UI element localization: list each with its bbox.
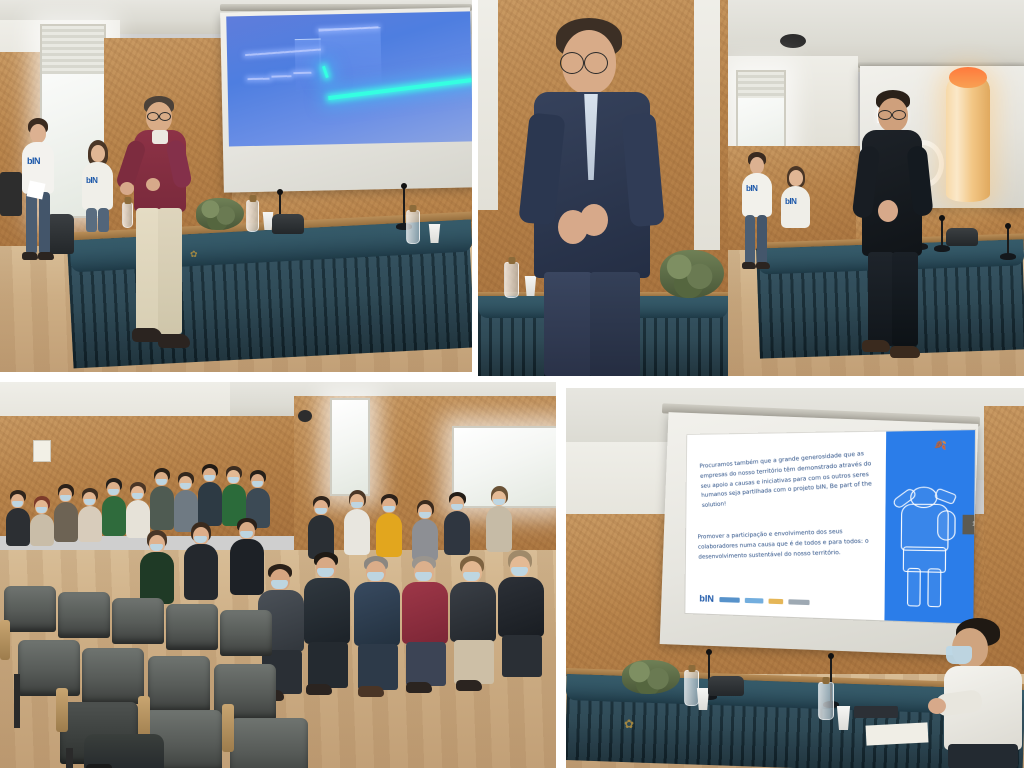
shirt-logo: bIN [27, 156, 40, 166]
seat-armrest [222, 704, 234, 752]
leg [868, 252, 894, 346]
audience-member [6, 490, 30, 546]
leg [39, 192, 50, 254]
microphone [1000, 226, 1016, 256]
table-crest: ✿ [624, 718, 634, 730]
student-volunteer: bIN [740, 152, 774, 284]
head [789, 170, 803, 186]
front-row-guest [450, 556, 496, 698]
slide-footer: bIN [699, 593, 809, 607]
leg [745, 215, 755, 265]
seat [220, 610, 272, 656]
seat [112, 598, 164, 644]
audience-scene [0, 382, 556, 768]
collar [152, 130, 168, 144]
audience-member [30, 496, 54, 546]
hand [928, 698, 946, 714]
seat [18, 640, 80, 696]
partner-logo-icon [719, 597, 739, 603]
glasses [892, 110, 906, 120]
photo-panel-top-left: ✿ bIN [0, 0, 472, 372]
wall-pillar [694, 0, 720, 250]
seat [4, 586, 56, 632]
shoe [158, 334, 190, 348]
seat-leg [66, 748, 73, 768]
shoe [38, 252, 54, 260]
glasses [560, 52, 584, 74]
head [750, 157, 764, 174]
window-blind [738, 72, 784, 98]
shirt-logo: bIN [746, 184, 757, 193]
auditorium-scene-top-left: ✿ bIN [0, 0, 472, 372]
leg [86, 208, 97, 232]
shoe [890, 346, 920, 358]
presenter-navy-suit [522, 18, 682, 376]
speaker-maroon-sweater [124, 96, 194, 362]
projection-screen-bottom-right: 🍂 Procuramos também que a grande generos… [660, 412, 979, 656]
technician [938, 618, 1024, 768]
auditorium-scene-top-right: bIN bIN [478, 0, 1024, 376]
shoe [22, 252, 38, 260]
jacket-on-seat [84, 734, 164, 768]
head [91, 145, 105, 162]
leg [948, 744, 1018, 768]
wall-notice [33, 440, 51, 462]
shoe [862, 340, 890, 352]
partner-logo-icon [788, 599, 809, 605]
torso-tshirt [82, 162, 113, 210]
slide-projection-scene: 🍂 Procuramos também que a grande generos… [566, 388, 1024, 768]
leg [892, 252, 918, 346]
glasses [878, 110, 892, 120]
photo-collage: ✿ bIN [0, 0, 1024, 768]
wall-edge [478, 0, 498, 210]
slide-paragraph-2: Promover a participação e envolvimento d… [697, 526, 879, 563]
presentation-slide: 🍂 Procuramos também que a grande generos… [685, 430, 975, 624]
face-mask [946, 646, 972, 664]
leg [544, 272, 592, 376]
seat-leg [14, 674, 20, 728]
chair [708, 676, 744, 696]
water-bottle [684, 670, 699, 706]
window [330, 398, 370, 496]
partner-logo-icon [768, 598, 783, 604]
water-bottle [406, 210, 420, 244]
water-bottle [504, 262, 519, 298]
glasses [147, 112, 159, 121]
hand [878, 200, 898, 222]
hand [580, 204, 608, 236]
water-bottle [246, 200, 259, 232]
seat [166, 604, 218, 650]
leg [158, 208, 182, 334]
shirt-logo: bIN [86, 176, 97, 185]
student-volunteer: bIN [18, 118, 58, 278]
sub-scene-right: bIN bIN [728, 0, 1024, 376]
glasses [584, 52, 608, 74]
photo-panel-bottom-left [0, 382, 556, 768]
chair [272, 214, 304, 234]
photo-panel-bottom-right: 🍂 Procuramos também que a grande generos… [566, 388, 1024, 768]
illustration-person-drinking [894, 487, 956, 606]
bag [86, 764, 112, 768]
photo-panel-top-right: bIN bIN [478, 0, 1024, 376]
projected-neon-artwork [226, 11, 472, 146]
leg [590, 272, 640, 376]
shoe [742, 262, 756, 269]
seat-armrest [56, 688, 68, 732]
front-row-guest [498, 550, 544, 694]
hand [146, 178, 160, 191]
audience-member [78, 488, 102, 544]
paper-documents [866, 722, 929, 745]
student-volunteer: bIN [780, 166, 812, 256]
slide-bin-logo: bIN [699, 593, 714, 604]
audience-member [54, 484, 78, 544]
slide-page-number: 10 [962, 515, 975, 535]
laptop [854, 706, 898, 718]
wall-speaker [298, 410, 312, 422]
hand [120, 182, 134, 195]
torso-tshirt [742, 173, 772, 217]
seat [58, 592, 110, 638]
projection-screen-top-left [220, 7, 472, 192]
seat-rows [0, 578, 430, 768]
seat [230, 718, 308, 768]
leg [757, 215, 767, 265]
seat [82, 648, 144, 704]
head [30, 124, 46, 143]
student-volunteer: bIN [80, 140, 116, 260]
slide-paragraph-1: Procuramos também que a grande generosid… [699, 449, 882, 512]
audience-member [102, 478, 126, 542]
paper-sheet [27, 181, 46, 200]
glasses [159, 112, 171, 121]
leg [98, 208, 109, 232]
seat-armrest [0, 620, 10, 660]
leg [26, 192, 37, 254]
partner-logo-icon [744, 597, 763, 603]
window-blind [42, 26, 104, 74]
presenter-black-jacket [858, 90, 936, 362]
water-bottle [818, 682, 834, 720]
chair [946, 228, 978, 246]
shoe [756, 262, 770, 269]
leaf-icon: 🍂 [934, 439, 947, 451]
seat [148, 656, 210, 712]
torso-tshirt [781, 186, 810, 228]
projected-cylinder-graphic [946, 72, 990, 202]
shirt-logo: bIN [785, 197, 796, 206]
leg [136, 208, 160, 334]
ceiling-light [780, 34, 806, 48]
